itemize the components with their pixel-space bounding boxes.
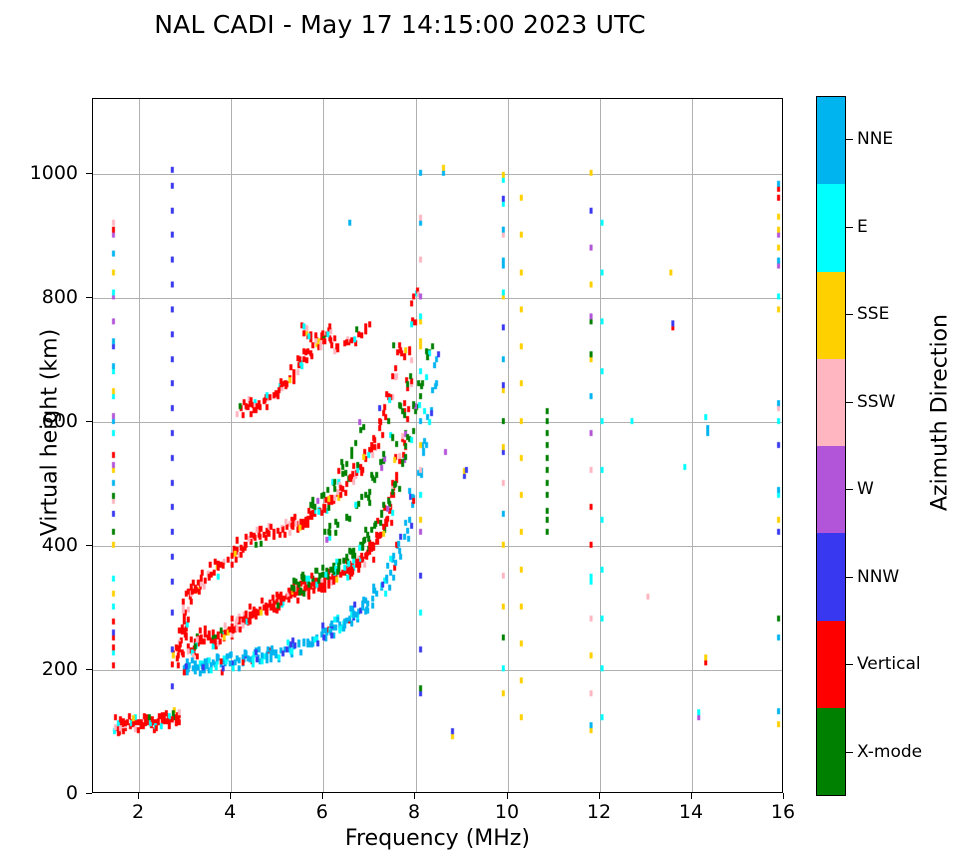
colorbar-tick-nnw [846, 577, 853, 578]
colorbar-tick-vertical [846, 664, 853, 665]
ytick-0 [86, 793, 92, 794]
xtick-10 [507, 793, 508, 799]
colorbar-segment-vertical [817, 621, 845, 708]
colorbar-segment-nnw [817, 533, 845, 620]
colorbar-label-ssw: SSW [857, 392, 895, 412]
colorbar-label-nne: NNE [857, 129, 893, 149]
xtick-label-12: 12 [569, 801, 629, 823]
xtick-4 [230, 793, 231, 799]
ytick-800 [86, 297, 92, 298]
colorbar-label-sse: SSE [857, 304, 889, 324]
colorbar-segment-w [817, 446, 845, 533]
colorbar-segment-ssw [817, 359, 845, 446]
colorbar-segment-e [817, 184, 845, 271]
page-title: NAL CADI - May 17 14:15:00 2023 UTC [0, 10, 800, 39]
xtick-label-10: 10 [477, 801, 537, 823]
colorbar-label-xmode: X-mode [857, 742, 922, 762]
xtick-label-8: 8 [384, 801, 444, 823]
colorbar-label-w: W [857, 479, 874, 499]
colorbar-tick-e [846, 227, 853, 228]
xtick-14 [691, 793, 692, 799]
xtick-6 [322, 793, 323, 799]
ytick-400 [86, 545, 92, 546]
colorbar-tick-nne [846, 139, 853, 140]
colorbar [816, 96, 846, 796]
ytick-200 [86, 669, 92, 670]
ionogram-scatter-canvas [93, 99, 782, 792]
ytick-label-200: 200 [18, 658, 78, 680]
ytick-label-0: 0 [18, 782, 78, 804]
xtick-12 [599, 793, 600, 799]
colorbar-segment-nne [817, 97, 845, 184]
colorbar-segment-sse [817, 272, 845, 359]
ytick-label-1000: 1000 [8, 162, 78, 184]
xtick-label-4: 4 [200, 801, 260, 823]
colorbar-label-e: E [857, 217, 868, 237]
colorbar-tick-xmode [846, 752, 853, 753]
xtick-2 [138, 793, 139, 799]
xtick-16 [783, 793, 784, 799]
xtick-label-14: 14 [661, 801, 721, 823]
ytick-1000 [86, 173, 92, 174]
ionogram-figure: NAL CADI - May 17 14:15:00 2023 UTC 2 4 … [0, 0, 958, 857]
colorbar-title: Azimuth Direction [928, 263, 953, 563]
x-axis-title: Frequency (MHz) [92, 826, 783, 851]
colorbar-tick-sse [846, 314, 853, 315]
xtick-label-2: 2 [108, 801, 168, 823]
xtick-8 [414, 793, 415, 799]
ytick-600 [86, 421, 92, 422]
colorbar-label-vertical: Vertical [857, 654, 921, 674]
xtick-label-6: 6 [292, 801, 352, 823]
colorbar-segment-xmode [817, 708, 845, 795]
xtick-label-16: 16 [753, 801, 813, 823]
colorbar-tick-ssw [846, 402, 853, 403]
y-axis-title: Virtual height (km) [38, 283, 63, 583]
colorbar-tick-w [846, 489, 853, 490]
plot-area [92, 98, 783, 793]
colorbar-label-nnw: NNW [857, 567, 899, 587]
